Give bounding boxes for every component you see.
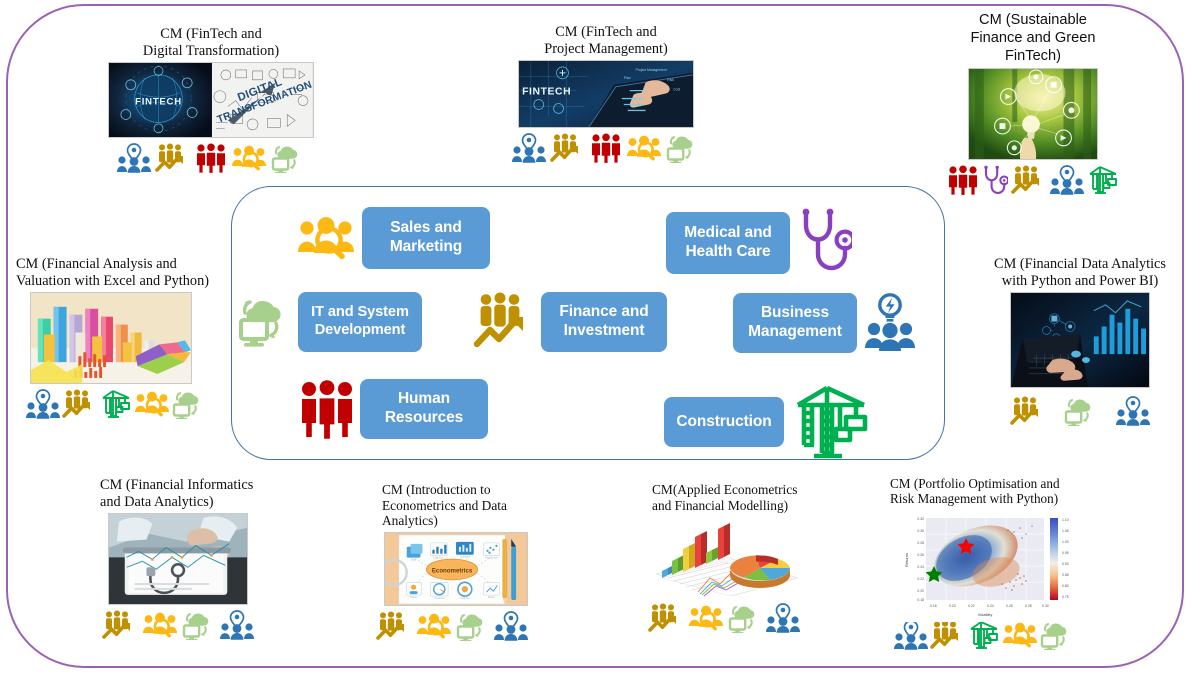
- three-people-icon: [195, 143, 227, 178]
- people-pin-icon: [220, 610, 254, 645]
- people-growth-arrow-icon: [376, 611, 412, 646]
- category-it-system-development[interactable]: IT and System Development: [236, 292, 422, 352]
- svg-text:Project Management: Project Management: [636, 68, 667, 72]
- svg-text:Model: Model: [488, 595, 495, 599]
- svg-text:0.22: 0.22: [917, 577, 924, 581]
- svg-text:Theory: Theory: [410, 595, 419, 599]
- svg-text:0.32: 0.32: [917, 517, 924, 521]
- people-magnifier-icon: [231, 143, 267, 178]
- people-magnifier-icon: [296, 212, 356, 264]
- course-icon-strip: [102, 610, 254, 645]
- cloud-monitor-icon: [182, 610, 216, 645]
- category-construction[interactable]: Construction: [664, 383, 874, 461]
- course-title: CM (Portfolio Optimisation and Risk Mana…: [890, 476, 1060, 507]
- three-people-icon: [590, 133, 622, 168]
- course-icon-strip: [947, 165, 1119, 200]
- people-magnifier-icon: [1002, 620, 1038, 655]
- svg-text:Risk: Risk: [667, 78, 674, 82]
- course-title: CM (Financial Informatics and Data Analy…: [100, 477, 253, 510]
- course-icon-strip: [894, 620, 1074, 655]
- svg-text:0.30: 0.30: [1042, 604, 1049, 608]
- category-label-business-management: Business Management: [733, 293, 857, 353]
- svg-text:0.22: 0.22: [968, 604, 975, 608]
- course-title: CM (Introduction to Econometrics and Dat…: [382, 482, 507, 529]
- svg-text:Cost: Cost: [673, 88, 680, 92]
- course-thumbnail-financial-informatics: [108, 513, 248, 605]
- svg-text:0.20: 0.20: [949, 604, 956, 608]
- category-business-management[interactable]: Business Management: [733, 292, 917, 354]
- people-growth-arrow-icon: [155, 143, 191, 178]
- core-categories-panel: Sales and Marketing Medical and Health C…: [231, 186, 945, 460]
- svg-text:1.10: 1.10: [1062, 518, 1069, 522]
- course-card-introduction-econometrics-data-analytics[interactable]: CM (Introduction to Econometrics and Dat…: [382, 482, 562, 646]
- people-growth-arrow-icon: [473, 292, 537, 352]
- course-thumbnail-applied-econometrics: [652, 516, 802, 598]
- people-pin-icon: [512, 133, 546, 168]
- course-thumbnail-fintech-project-management: FINTECH Project Management Risk Plan Cos…: [518, 60, 694, 128]
- people-magnifier-icon: [688, 603, 724, 638]
- cloud-monitor-icon: [456, 611, 490, 646]
- svg-text:FINTECH: FINTECH: [135, 97, 182, 108]
- course-thumbnail-sustainable-finance-green-fintech: [968, 68, 1098, 160]
- crane-icon: [790, 383, 874, 461]
- svg-text:Returns: Returns: [904, 553, 909, 567]
- course-card-sustainable-finance-green-fintech[interactable]: CM (Sustainable Finance and Green FinTec…: [940, 12, 1126, 200]
- course-thumbnail-portfolio-optimisation: 0.320.30 0.280.26 0.240.22 0.200.18 0.18…: [894, 510, 1082, 622]
- category-label-human-resources: Human Resources: [360, 379, 488, 439]
- svg-text:Statistics: Statistics: [433, 556, 444, 560]
- category-sales-marketing[interactable]: Sales and Marketing: [296, 207, 490, 269]
- svg-text:FINTECH: FINTECH: [522, 87, 571, 98]
- crane-icon: [1087, 165, 1119, 200]
- people-magnifier-icon: [626, 133, 662, 168]
- cloud-monitor-icon: [236, 293, 294, 351]
- svg-text:0.28: 0.28: [917, 541, 924, 545]
- category-label-it-system-development: IT and System Development: [298, 292, 422, 352]
- course-title: CM(Applied Econometrics and Financial Mo…: [652, 482, 797, 513]
- people-growth-arrow-icon: [1011, 165, 1047, 200]
- people-pin-icon: [894, 620, 928, 655]
- cloud-monitor-icon: [666, 133, 700, 168]
- diagram-canvas: Sales and Marketing Medical and Health C…: [0, 0, 1200, 675]
- people-pin-icon: [117, 143, 151, 178]
- course-icon-strip: [512, 133, 700, 168]
- people-growth-arrow-icon: [550, 133, 586, 168]
- category-label-finance-investment: Finance and Investment: [541, 292, 667, 352]
- stethoscope-icon: [796, 207, 852, 279]
- people-growth-arrow-icon: [102, 610, 138, 645]
- svg-text:0.30: 0.30: [917, 529, 924, 533]
- course-card-financial-data-analytics-python-powerbi[interactable]: CM (Financial Data Analytics with Python…: [968, 256, 1192, 431]
- course-thumbnail-financial-analysis-valuation: [30, 292, 192, 384]
- people-growth-arrow-icon: [62, 389, 98, 424]
- cloud-monitor-icon: [271, 143, 305, 178]
- people-magnifier-icon: [134, 389, 170, 424]
- svg-text:0.85: 0.85: [1062, 573, 1069, 577]
- course-card-financial-informatics-data-analytics[interactable]: CM (Financial Informatics and Data Analy…: [100, 477, 300, 645]
- people-pin-icon: [1116, 396, 1150, 431]
- svg-text:0.24: 0.24: [917, 565, 924, 569]
- course-icon-strip: [376, 611, 528, 646]
- category-label-medical-health-care: Medical and Health Care: [666, 212, 790, 274]
- category-label-sales-marketing: Sales and Marketing: [362, 207, 490, 269]
- people-pin-icon: [494, 611, 528, 646]
- people-growth-arrow-icon: [648, 603, 684, 638]
- course-thumbnail-fintech-digital-transformation: FINTECH DIGITAL TRANSFORMATION: [108, 62, 314, 138]
- svg-text:0.24: 0.24: [987, 604, 994, 608]
- people-magnifier-icon: [142, 610, 178, 645]
- course-icon-strip: [117, 143, 305, 178]
- svg-text:Software: Software: [460, 555, 471, 559]
- svg-text:Volatility: Volatility: [978, 612, 993, 617]
- course-card-applied-econometrics-financial-modelling[interactable]: CM(Applied Econometrics and Financial Mo…: [652, 482, 842, 638]
- svg-text:Plan: Plan: [624, 76, 631, 80]
- svg-text:Analysis: Analysis: [460, 596, 470, 600]
- stethoscope-icon: [982, 165, 1008, 200]
- svg-text:0.80: 0.80: [1062, 584, 1069, 588]
- svg-text:Econometrics: Econometrics: [432, 567, 473, 574]
- category-finance-investment[interactable]: Finance and Investment: [473, 292, 667, 352]
- course-card-financial-analysis-valuation[interactable]: CM (Financial Analysis and Valuation wit…: [16, 256, 221, 424]
- cloud-monitor-icon: [172, 389, 206, 424]
- people-growth-arrow-icon: [930, 620, 966, 655]
- crane-icon: [968, 620, 1000, 655]
- people-pin-icon: [1050, 165, 1084, 200]
- cloud-monitor-icon: [728, 603, 762, 638]
- svg-text:1.05: 1.05: [1062, 529, 1069, 533]
- course-card-portfolio-optimisation-risk-management[interactable]: CM (Portfolio Optimisation and Risk Mana…: [890, 476, 1100, 655]
- svg-text:0.90: 0.90: [1062, 562, 1069, 566]
- cloud-monitor-icon: [1064, 396, 1098, 431]
- svg-text:Forecast: Forecast: [434, 596, 444, 600]
- svg-text:Data: Data: [411, 558, 417, 562]
- svg-text:0.26: 0.26: [1006, 604, 1013, 608]
- three-people-icon: [298, 379, 356, 439]
- svg-text:1.00: 1.00: [1062, 540, 1069, 544]
- cloud-monitor-icon: [1040, 620, 1074, 655]
- category-label-construction: Construction: [664, 397, 784, 447]
- three-people-icon: [947, 165, 979, 200]
- svg-text:0.20: 0.20: [917, 589, 924, 593]
- course-card-fintech-project-management[interactable]: CM (FinTech and Project Management) FINT…: [497, 24, 715, 168]
- svg-text:Regression: Regression: [485, 556, 498, 560]
- people-growth-arrow-icon: [1010, 396, 1046, 431]
- course-thumbnail-financial-data-analytics: [1010, 292, 1150, 388]
- course-title: CM (Financial Analysis and Valuation wit…: [16, 256, 209, 289]
- svg-text:0.75: 0.75: [1062, 595, 1069, 599]
- course-title: CM (FinTech and Digital Transformation): [143, 26, 279, 59]
- people-pin-icon: [766, 603, 800, 638]
- svg-text:0.18: 0.18: [917, 598, 924, 602]
- crane-icon: [100, 389, 132, 424]
- svg-text:0.95: 0.95: [1062, 551, 1069, 555]
- course-icon-strip: [1010, 396, 1150, 431]
- course-title: CM (Sustainable Finance and Green FinTec…: [971, 12, 1096, 65]
- course-icon-strip: [26, 389, 206, 424]
- category-medical-health-care[interactable]: Medical and Health Care: [666, 207, 852, 279]
- svg-text:0.28: 0.28: [1025, 604, 1032, 608]
- course-thumbnail-introduction-econometrics: Econometrics: [384, 532, 528, 606]
- course-icon-strip: [648, 603, 800, 638]
- course-title: CM (FinTech and Project Management): [544, 24, 667, 57]
- people-pin-icon: [26, 389, 60, 424]
- category-human-resources[interactable]: Human Resources: [298, 379, 488, 439]
- people-lightbulb-icon: [863, 292, 917, 354]
- people-magnifier-icon: [416, 611, 452, 646]
- course-card-fintech-digital-transformation[interactable]: CM (FinTech and Digital Transformation): [96, 26, 326, 178]
- svg-text:0.18: 0.18: [930, 604, 937, 608]
- svg-text:0.26: 0.26: [917, 553, 924, 557]
- course-title: CM (Financial Data Analytics with Python…: [994, 256, 1166, 289]
